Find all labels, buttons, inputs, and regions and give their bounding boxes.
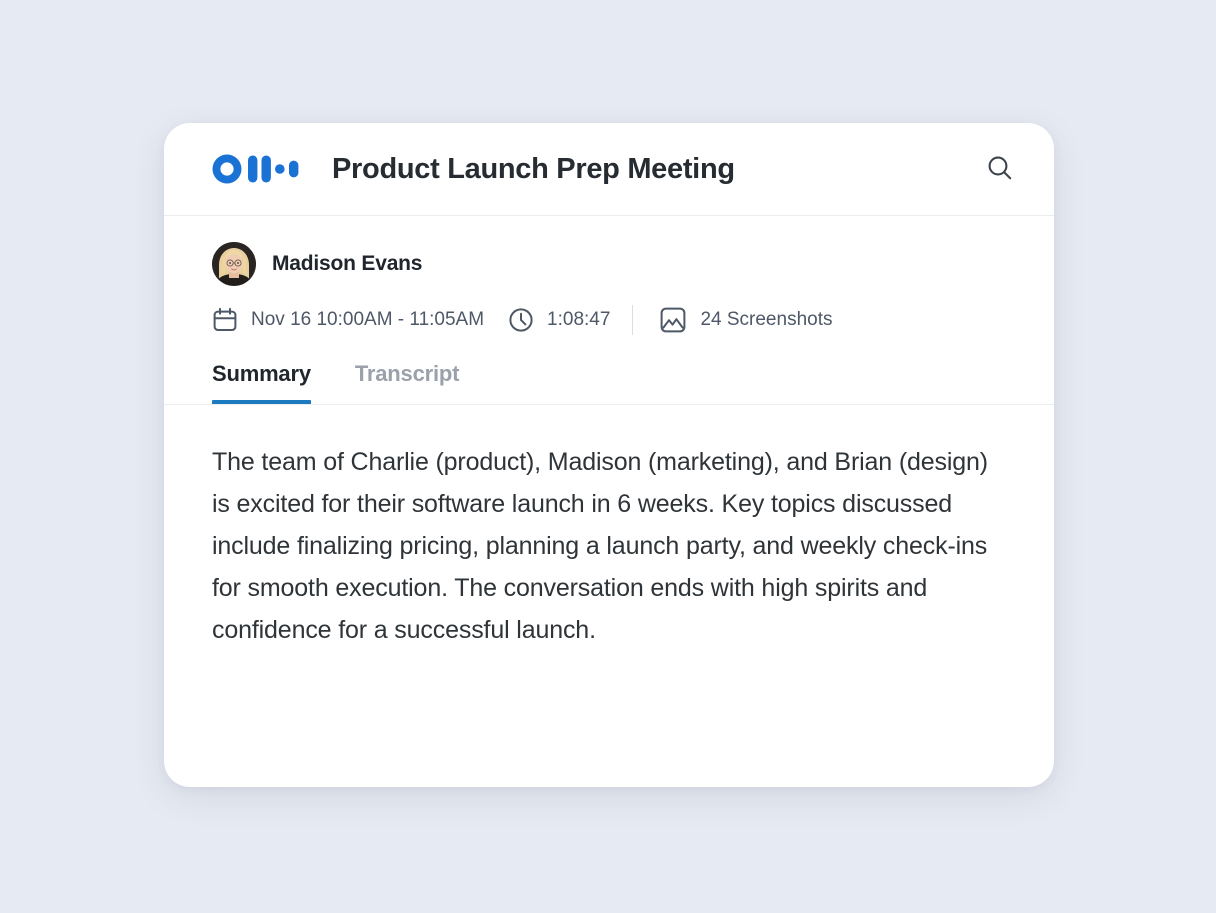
tab-bar: Summary Transcript: [164, 361, 1054, 405]
otter-ai-logo[interactable]: [212, 152, 300, 186]
calendar-icon: [212, 307, 238, 333]
page-root: Product Launch Prep Meeting: [0, 0, 1216, 913]
avatar: [212, 242, 256, 286]
meeting-screenshots-item[interactable]: 24 Screenshots: [659, 306, 832, 334]
tab-summary[interactable]: Summary: [212, 361, 311, 405]
meeting-date-item: Nov 16 10:00AM - 11:05AM: [212, 307, 484, 333]
meeting-screenshots-label: 24 Screenshots: [700, 309, 832, 331]
meeting-info-row: Nov 16 10:00AM - 11:05AM 1:08:47: [212, 305, 1006, 335]
meta-divider: [632, 305, 633, 335]
speaker-row: Madison Evans: [212, 242, 1006, 286]
speaker-name: Madison Evans: [272, 252, 422, 276]
search-button[interactable]: [978, 147, 1022, 191]
tab-transcript[interactable]: Transcript: [355, 361, 459, 405]
meeting-meta: Madison Evans Nov 16 10:00AM - 11:05AM: [164, 216, 1054, 335]
page-title: Product Launch Prep Meeting: [332, 153, 978, 186]
card-header: Product Launch Prep Meeting: [164, 123, 1054, 216]
image-icon: [659, 306, 687, 334]
summary-panel: The team of Charlie (product), Madison (…: [164, 405, 1054, 651]
summary-text: The team of Charlie (product), Madison (…: [212, 441, 1002, 651]
meeting-duration-item: 1:08:47: [508, 307, 610, 333]
clock-icon: [508, 307, 534, 333]
meeting-date-label: Nov 16 10:00AM - 11:05AM: [251, 309, 484, 331]
search-icon: [985, 153, 1015, 186]
meeting-duration-label: 1:08:47: [547, 309, 610, 331]
meeting-card: Product Launch Prep Meeting: [164, 123, 1054, 787]
